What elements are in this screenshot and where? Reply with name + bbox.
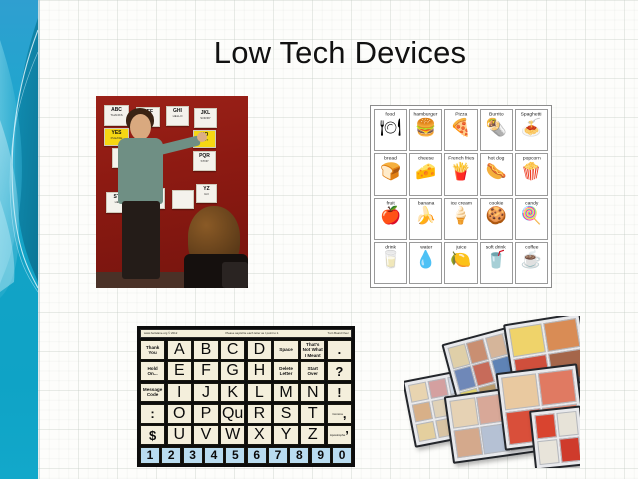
food-cell: juice🍋 <box>444 242 477 284</box>
food-cell-icon: ☕ <box>521 251 542 268</box>
letter-card: YZGO <box>196 184 217 203</box>
food-cell: Burrito🌯 <box>480 109 513 151</box>
alphabet-cell: E <box>167 361 192 381</box>
alphabet-cell: Comma, <box>327 404 352 424</box>
food-cell: fruit🍎 <box>374 198 407 240</box>
food-cell: popcorn🍿 <box>515 153 548 195</box>
board-header-left: www.hartslane.org © 2012 <box>144 332 177 335</box>
food-picture-communication-board: food🍽hamburger🍔Pizza🍕Burrito🌯Spaghetti🍝b… <box>370 105 552 288</box>
alphabet-cell: G <box>220 361 245 381</box>
alphabet-cell: W <box>220 425 245 445</box>
alphabet-cell: : <box>140 404 165 424</box>
number-cell: 2 <box>161 447 181 464</box>
alphabet-cell: Start Over <box>300 361 325 381</box>
alphabet-cell: R <box>247 404 272 424</box>
letter-card: GHIHELLO <box>166 106 189 126</box>
food-cell-label: banana <box>418 201 434 206</box>
alphabet-cell: F <box>193 361 218 381</box>
food-cell-icon: 🍋 <box>450 251 471 268</box>
alphabet-cell: Apostrophe’ <box>327 425 352 445</box>
alphabet-cell: X <box>247 425 272 445</box>
alphabet-cell: M <box>273 383 298 403</box>
number-cell: 7 <box>268 447 288 464</box>
food-cell-label: coffee <box>525 245 538 250</box>
board-header-right: Turn Board Over <box>327 332 348 335</box>
alphabet-cell: That's Not What I Meant <box>300 340 325 360</box>
alphabet-cell-caption: Comma <box>332 412 343 416</box>
decorative-sidebar-band <box>0 0 38 479</box>
food-cell: candy🍭 <box>515 198 548 240</box>
alphabet-cell: Thank You <box>140 340 165 360</box>
number-cell: 5 <box>225 447 245 464</box>
number-cell: 0 <box>332 447 352 464</box>
food-cell: cookie🍪 <box>480 198 513 240</box>
food-cell-icon: 🍎 <box>380 207 401 224</box>
alphabet-cell-text: ’ <box>345 428 349 443</box>
standing-person-head <box>130 114 151 140</box>
alphabet-cell: N <box>300 383 325 403</box>
alphabet-cell: V <box>193 425 218 445</box>
alphabet-cell: I <box>167 383 192 403</box>
letter-card: JKLSORRY <box>194 108 217 128</box>
alphabet-cell: C <box>220 340 245 360</box>
food-cell-label: cheese <box>418 156 434 161</box>
number-cell: 9 <box>311 447 331 464</box>
food-cell: coffee☕ <box>515 242 548 284</box>
alphabet-grid: Thank YouABCDSpaceThat's Not What I Mean… <box>140 340 352 445</box>
food-cell-icon: 🧀 <box>415 163 436 180</box>
food-cell-icon: 🍦 <box>450 207 471 224</box>
alphabet-cell: Space <box>273 340 298 360</box>
food-cell-label: drink <box>385 245 396 250</box>
food-cell-label: fruit <box>386 201 394 206</box>
food-cell-label: hamburger <box>414 112 438 117</box>
alphabet-cell-caption: Apostrophe <box>330 433 345 437</box>
food-cell: Pizza🍕 <box>444 109 477 151</box>
alphabet-cell: Z <box>300 425 325 445</box>
communication-book <box>529 405 580 468</box>
alphabet-letter-board: www.hartslane.org © 2012 Please say/writ… <box>137 326 355 467</box>
sidebar-wave-graphic <box>0 0 38 479</box>
food-cell-icon: 🌭 <box>486 163 507 180</box>
alphabet-cell: L <box>247 383 272 403</box>
food-cell-icon: 🍔 <box>415 119 436 136</box>
food-cell-label: bread <box>384 156 397 161</box>
page-title: Low Tech Devices <box>60 35 620 71</box>
alphabet-cell: Y <box>273 425 298 445</box>
food-cell: food🍽 <box>374 109 407 151</box>
food-cell-label: food <box>386 112 396 117</box>
food-cell-icon: 🥤 <box>486 251 507 268</box>
alphabet-cell: Message Code <box>140 383 165 403</box>
alphabet-cell: ? <box>327 361 352 381</box>
food-cell-label: cookie <box>489 201 503 206</box>
board-header-instruction: Please say/write each letter as I point … <box>182 332 323 335</box>
food-cell-label: candy <box>525 201 538 206</box>
food-cell-icon: 🍕 <box>450 119 471 136</box>
food-cell: hamburger🍔 <box>409 109 442 151</box>
food-cell-icon: 🍌 <box>415 207 436 224</box>
food-cell-icon: 🥛 <box>380 251 401 268</box>
alphabet-cell: H <box>247 361 272 381</box>
food-cell-label: Pizza <box>455 112 467 117</box>
alphabet-cell: Hold On... <box>140 361 165 381</box>
food-cell: soft drink🥤 <box>480 242 513 284</box>
alphabet-cell: T <box>300 404 325 424</box>
food-cell-icon: 🍟 <box>450 163 471 180</box>
alphabet-board-header: www.hartslane.org © 2012 Please say/writ… <box>140 329 352 338</box>
food-cell-icon: 💧 <box>415 251 436 268</box>
food-cell-label: ice cream <box>450 201 471 206</box>
food-cell: drink🥛 <box>374 242 407 284</box>
food-cell: banana🍌 <box>409 198 442 240</box>
alphabet-cell: U <box>167 425 192 445</box>
food-cell-label: water <box>420 245 432 250</box>
alphabet-cell: ! <box>327 383 352 403</box>
alphabet-cell: Delete Letter <box>273 361 298 381</box>
food-cell: French fries🍟 <box>444 153 477 195</box>
slide-canvas: Low Tech Devices ABCTHANKS DEFI SPEAK GH… <box>0 0 638 479</box>
food-cell-icon: 🍝 <box>521 119 542 136</box>
food-cell-icon: 🌯 <box>486 119 507 136</box>
food-cell: cheese🧀 <box>409 153 442 195</box>
letter-card: PQRSTOP <box>193 151 216 171</box>
food-cell-label: French fries <box>448 156 474 161</box>
alphabet-cell: $ <box>140 425 165 445</box>
food-cell-icon: 🍞 <box>380 163 401 180</box>
food-cell-icon: 🍭 <box>521 207 542 224</box>
food-cell-icon: 🍪 <box>486 207 507 224</box>
food-cell-label: Spaghetti <box>521 112 542 117</box>
alphabet-cell: D <box>247 340 272 360</box>
food-cell-icon: 🍿 <box>521 163 542 180</box>
alphabet-cell: J <box>193 383 218 403</box>
standing-person-hand <box>197 132 207 142</box>
alphabet-cell: B <box>193 340 218 360</box>
food-cell-label: Burrito <box>489 112 504 117</box>
photo-communication-books <box>404 316 580 468</box>
number-row: 1234567890 <box>140 447 352 464</box>
wheelchair-part <box>222 262 248 288</box>
food-cell: hot dog🌭 <box>480 153 513 195</box>
food-cell-label: soft drink <box>486 245 506 250</box>
food-cell: bread🍞 <box>374 153 407 195</box>
number-cell: 8 <box>289 447 309 464</box>
alphabet-cell: S <box>273 404 298 424</box>
photo-woman-with-letter-cards: ABCTHANKS DEFI SPEAK GHIHELLO JKLSORRY Y… <box>96 96 248 288</box>
food-cell-icon: 🍽 <box>380 119 402 136</box>
alphabet-cell: Qu <box>220 404 245 424</box>
alphabet-cell: A <box>167 340 192 360</box>
food-cell: Spaghetti🍝 <box>515 109 548 151</box>
alphabet-cell-text: , <box>343 406 347 421</box>
sidebar-edge-highlight <box>38 0 40 479</box>
alphabet-cell: . <box>327 340 352 360</box>
number-cell: 6 <box>247 447 267 464</box>
letter-card <box>172 190 194 209</box>
alphabet-cell: K <box>220 383 245 403</box>
food-cell-label: hot dog <box>488 156 504 161</box>
food-cell: water💧 <box>409 242 442 284</box>
food-cell-label: juice <box>456 245 466 250</box>
food-cell: ice cream🍦 <box>444 198 477 240</box>
alphabet-cell: P <box>193 404 218 424</box>
number-cell: 1 <box>140 447 160 464</box>
food-cell-label: popcorn <box>522 156 540 161</box>
number-cell: 4 <box>204 447 224 464</box>
number-cell: 3 <box>183 447 203 464</box>
alphabet-cell: O <box>167 404 192 424</box>
standing-person-legs <box>122 201 160 279</box>
